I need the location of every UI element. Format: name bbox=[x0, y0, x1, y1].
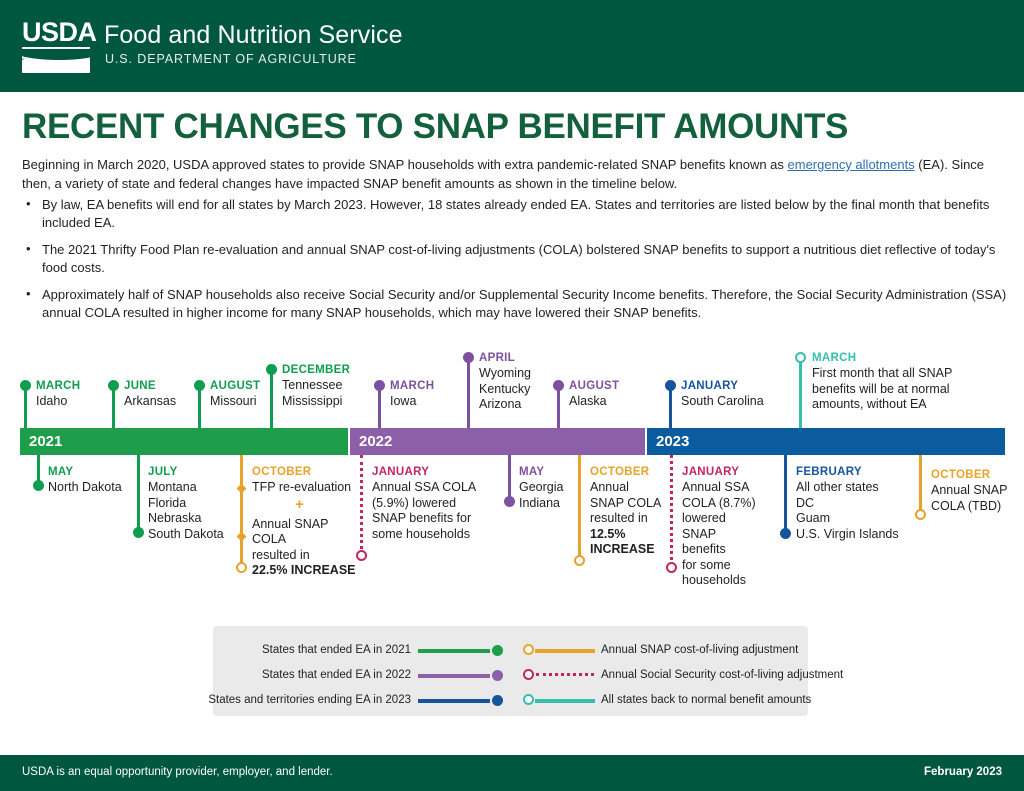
timeline-entry-below: JANUARY Annual SSA COLA (5.9%) lowered S… bbox=[372, 465, 482, 542]
footer-statement: USDA is an equal opportunity provider, e… bbox=[22, 766, 333, 778]
usda-logo-rule bbox=[22, 47, 90, 49]
timeline-marker-open-circle bbox=[666, 562, 677, 573]
legend-item: Annual Social Security cost-of-living ad… bbox=[523, 664, 808, 686]
legend-label: States that ended EA in 2022 bbox=[262, 664, 411, 686]
timeline-marker-dot bbox=[266, 364, 277, 375]
timeline-marker-open-circle bbox=[236, 562, 247, 573]
timeline-marker-open-circle bbox=[795, 352, 806, 363]
entry-month: APRIL bbox=[479, 351, 574, 365]
legend-line-swatch bbox=[418, 649, 490, 653]
timeline-entry-above: MARCH Iowa bbox=[390, 379, 485, 410]
usda-logo-swoosh-icon bbox=[22, 51, 90, 73]
entry-month: JANUARY bbox=[372, 465, 482, 479]
timeline-stem bbox=[669, 386, 672, 428]
intro-before: Beginning in March 2020, USDA approved s… bbox=[22, 157, 788, 172]
timeline-stem bbox=[578, 455, 581, 560]
entry-month: JANUARY bbox=[681, 379, 791, 393]
legend-line-swatch bbox=[535, 699, 595, 703]
legend-item: States that ended EA in 2021 bbox=[213, 639, 503, 661]
entry-month: AUGUST bbox=[569, 379, 664, 393]
entry-month: OCTOBER bbox=[252, 465, 357, 479]
legend-right-column: Annual SNAP cost-of-living adjustment An… bbox=[523, 639, 808, 714]
timeline-stem bbox=[799, 362, 802, 428]
timeline-stem bbox=[378, 386, 381, 428]
legend-label: Annual SNAP cost-of-living adjustment bbox=[601, 639, 798, 661]
bullet-dot-icon: • bbox=[22, 286, 42, 322]
intro-paragraph: Beginning in March 2020, USDA approved s… bbox=[22, 155, 1007, 193]
timeline-stem bbox=[270, 370, 273, 428]
plus-icon: + bbox=[252, 496, 347, 513]
timeline-marker-dot bbox=[780, 528, 791, 539]
timeline-stem bbox=[24, 386, 27, 428]
legend-dot-icon bbox=[492, 695, 503, 706]
site-footer: USDA is an equal opportunity provider, e… bbox=[0, 755, 1024, 791]
list-item: • By law, EA benefits will end for all s… bbox=[22, 196, 1007, 232]
timeline-marker-open-circle bbox=[356, 550, 367, 561]
legend-item: All states back to normal benefit amount… bbox=[523, 689, 808, 711]
timeline-stem bbox=[112, 386, 115, 428]
timeline-stem bbox=[784, 455, 787, 531]
entry-month: JULY bbox=[148, 465, 243, 479]
timeline-entry-above: DECEMBER Tennessee Mississippi bbox=[282, 363, 382, 409]
entry-body: Annual SNAP COLA resulted in bbox=[590, 480, 670, 527]
timeline-entry-below: JANUARY Annual SSA COLA (8.7%) lowered S… bbox=[682, 465, 762, 589]
entry-body: Annual SSA COLA (5.9%) lowered SNAP bene… bbox=[372, 480, 482, 542]
entry-body: Iowa bbox=[390, 394, 485, 410]
legend-dot-icon bbox=[492, 645, 503, 656]
timeline-stem-dotted bbox=[670, 455, 673, 566]
usda-logo-text: USDA bbox=[22, 18, 92, 46]
timeline-stem bbox=[137, 455, 140, 530]
bullet-text: Approximately half of SNAP households al… bbox=[42, 286, 1007, 322]
entry-body-line2: Annual SNAP COLA resulted in bbox=[252, 517, 357, 564]
timeline-marker-dot bbox=[194, 380, 205, 391]
legend-item: States that ended EA in 2022 bbox=[213, 664, 503, 686]
entry-month: MARCH bbox=[390, 379, 485, 393]
page-title: RECENT CHANGES TO SNAP BENEFIT AMOUNTS bbox=[22, 107, 848, 147]
entry-body: Montana Florida Nebraska South Dakota bbox=[148, 480, 243, 542]
timeline-bar-2021: 2021 bbox=[20, 428, 348, 455]
timeline-marker-dot bbox=[20, 380, 31, 391]
timeline-entry-below: MAY North Dakota bbox=[48, 465, 143, 496]
timeline-entry-below: FEBRUARY All other states DC Guam U.S. V… bbox=[796, 465, 921, 542]
bullet-text: By law, EA benefits will end for all sta… bbox=[42, 196, 1007, 232]
timeline-marker-dot bbox=[553, 380, 564, 391]
legend-label: States that ended EA in 2021 bbox=[262, 639, 411, 661]
entry-body: South Carolina bbox=[681, 394, 791, 410]
bullet-text: The 2021 Thrifty Food Plan re-evaluation… bbox=[42, 241, 1007, 277]
list-item: • The 2021 Thrifty Food Plan re-evaluati… bbox=[22, 241, 1007, 277]
usda-logo: USDA bbox=[22, 18, 92, 74]
timeline-entry-below: OCTOBER Annual SNAP COLA (TBD) bbox=[931, 468, 1024, 514]
legend-open-circle-icon bbox=[523, 669, 534, 680]
legend-open-circle-icon bbox=[523, 694, 534, 705]
timeline-stem bbox=[37, 455, 40, 483]
timeline-marker-dot bbox=[374, 380, 385, 391]
timeline-marker-dot bbox=[504, 496, 515, 507]
entry-month: MARCH bbox=[812, 351, 962, 365]
entry-body: Annual SSA COLA (8.7%) lowered SNAP bene… bbox=[682, 480, 762, 589]
timeline-stem bbox=[240, 455, 243, 568]
entry-body: North Dakota bbox=[48, 480, 143, 496]
site-header: USDA Food and Nutrition Service U.S. DEP… bbox=[0, 0, 1024, 92]
timeline-entry-above: MARCH First month that all SNAP benefits… bbox=[812, 351, 962, 413]
legend-line-swatch bbox=[418, 699, 490, 703]
entry-body: Annual SNAP COLA (TBD) bbox=[931, 483, 1024, 514]
entry-body: All other states DC Guam U.S. Virgin Isl… bbox=[796, 480, 921, 542]
timeline-stem bbox=[467, 358, 470, 428]
timeline-marker-dot bbox=[133, 527, 144, 538]
list-item: • Approximately half of SNAP households … bbox=[22, 286, 1007, 322]
entry-body: Alaska bbox=[569, 394, 664, 410]
entry-body-line1: TFP re-evaluation bbox=[252, 480, 357, 496]
timeline-entry-above: JANUARY South Carolina bbox=[681, 379, 791, 410]
footer-date: February 2023 bbox=[924, 766, 1002, 778]
legend-dot-icon bbox=[492, 670, 503, 681]
emergency-allotments-link[interactable]: emergency allotments bbox=[788, 157, 915, 172]
legend-label: All states back to normal benefit amount… bbox=[601, 689, 811, 711]
timeline: 2021 2022 2023 MARCH Idaho JUNE Arkansas… bbox=[0, 340, 1024, 600]
timeline-bar-2022: 2022 bbox=[350, 428, 645, 455]
agency-name: Food and Nutrition Service bbox=[104, 21, 403, 50]
timeline-marker-dot bbox=[108, 380, 119, 391]
entry-body: Tennessee Mississippi bbox=[282, 378, 382, 409]
timeline-marker-open-circle bbox=[915, 509, 926, 520]
timeline-marker-open-circle bbox=[574, 555, 585, 566]
entry-month: OCTOBER bbox=[590, 465, 670, 479]
infographic-page: USDA Food and Nutrition Service U.S. DEP… bbox=[0, 0, 1024, 791]
department-name: U.S. DEPARTMENT OF AGRICULTURE bbox=[105, 52, 357, 66]
legend-label: Annual Social Security cost-of-living ad… bbox=[601, 664, 843, 686]
entry-month: MAY bbox=[48, 465, 143, 479]
timeline-stem bbox=[508, 455, 511, 499]
timeline-marker-dot bbox=[463, 352, 474, 363]
bullet-dot-icon: • bbox=[22, 241, 42, 277]
entry-value: 22.5% INCREASE bbox=[252, 563, 357, 579]
timeline-entry-below: OCTOBER Annual SNAP COLA resulted in 12.… bbox=[590, 465, 670, 558]
bullet-dot-icon: • bbox=[22, 196, 42, 232]
legend: States that ended EA in 2021 States that… bbox=[213, 626, 808, 716]
legend-dotted-line-swatch bbox=[536, 673, 594, 676]
timeline-stem bbox=[919, 455, 922, 512]
legend-open-circle-icon bbox=[523, 644, 534, 655]
entry-month: DECEMBER bbox=[282, 363, 382, 377]
entry-month: OCTOBER bbox=[931, 468, 1024, 482]
legend-label: States and territories ending EA in 2023 bbox=[208, 689, 411, 711]
bullet-list: • By law, EA benefits will end for all s… bbox=[22, 196, 1007, 331]
timeline-stem-dotted bbox=[360, 455, 363, 555]
entry-body: First month that all SNAP benefits will … bbox=[812, 366, 962, 413]
timeline-stem bbox=[198, 386, 201, 428]
timeline-entry-below: JULY Montana Florida Nebraska South Dako… bbox=[148, 465, 243, 542]
timeline-marker-dot bbox=[33, 480, 44, 491]
entry-month: JANUARY bbox=[682, 465, 762, 479]
legend-line-swatch bbox=[535, 649, 595, 653]
legend-item: States and territories ending EA in 2023 bbox=[213, 689, 503, 711]
timeline-bar-2023: 2023 bbox=[647, 428, 1005, 455]
timeline-entry-above: AUGUST Alaska bbox=[569, 379, 664, 410]
entry-value: 12.5% INCREASE bbox=[590, 527, 670, 558]
entry-month: FEBRUARY bbox=[796, 465, 921, 479]
legend-left-column: States that ended EA in 2021 States that… bbox=[213, 639, 503, 714]
timeline-stem bbox=[557, 386, 560, 428]
legend-item: Annual SNAP cost-of-living adjustment bbox=[523, 639, 808, 661]
timeline-marker-dot bbox=[665, 380, 676, 391]
legend-line-swatch bbox=[418, 674, 490, 678]
timeline-entry-below: OCTOBER TFP re-evaluation + Annual SNAP … bbox=[252, 465, 357, 579]
